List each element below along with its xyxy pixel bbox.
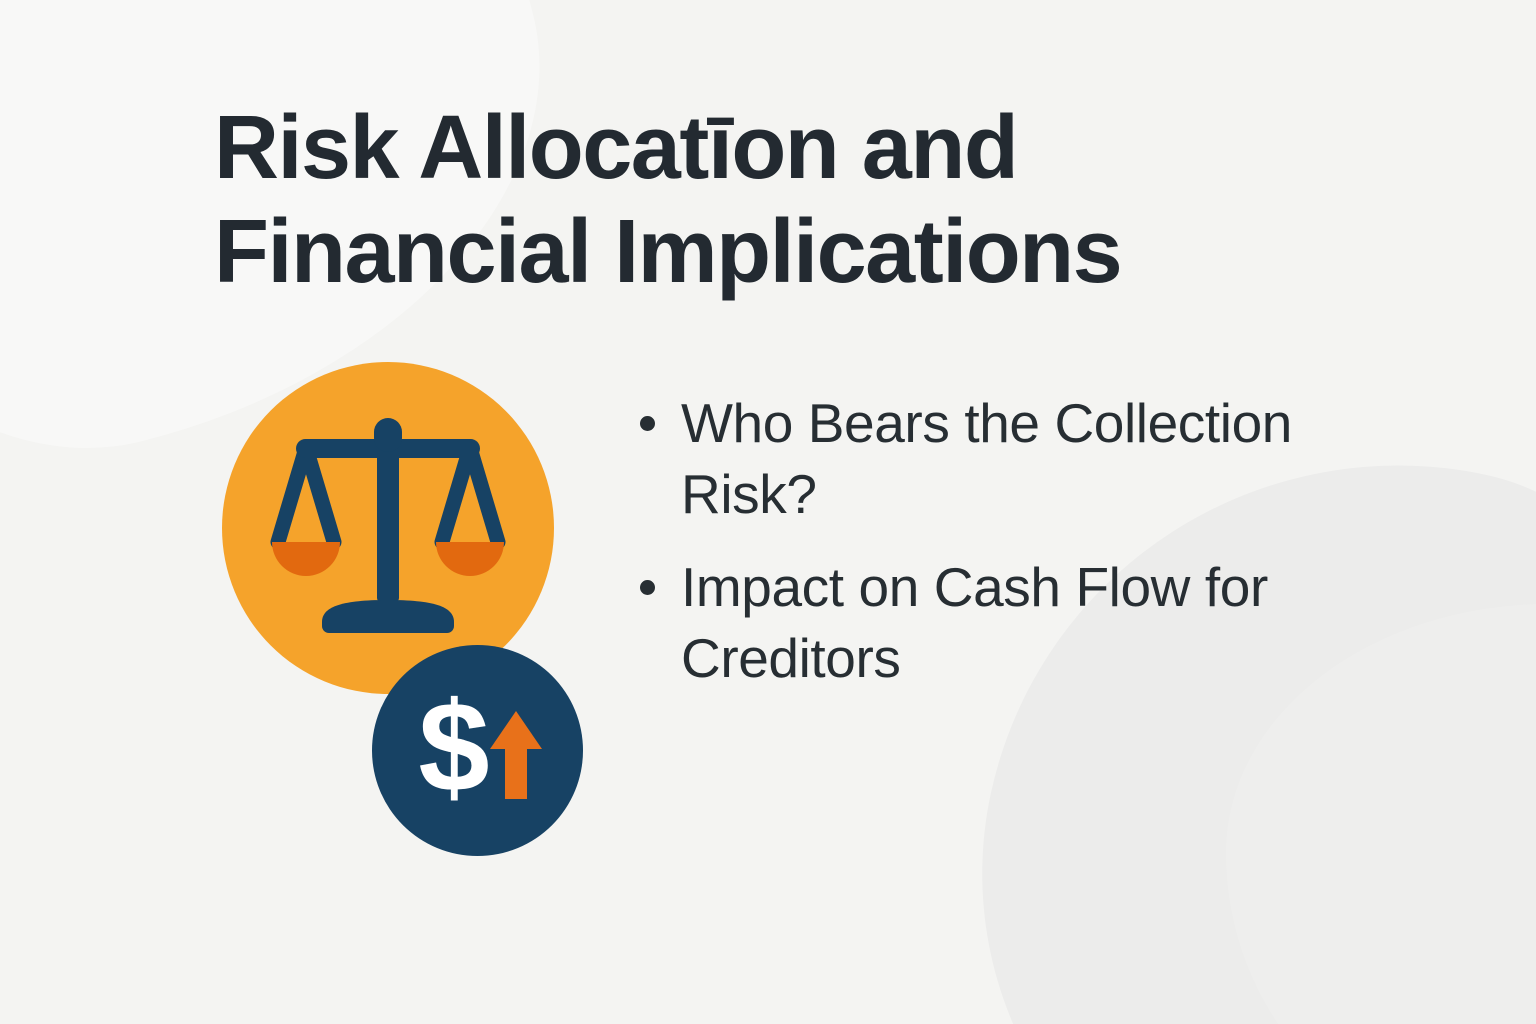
page-title: Risk Allocatīon and Financial Implicatio… [214, 96, 1274, 304]
bullet-dot-icon [640, 416, 655, 431]
dollar-growth-badge: $ [372, 645, 583, 856]
list-item: Who Bears the Collection Risk? [640, 388, 1330, 530]
list-item: Impact on Cash Flow for Creditors [640, 552, 1330, 694]
bullet-list: Who Bears the Collection Risk? Impact on… [640, 388, 1330, 716]
dollar-growth-icon: $ [406, 679, 550, 823]
page-title-line-1: Risk Allocatīon and [214, 96, 1274, 200]
slide-canvas: Risk Allocatīon and Financial Implicatio… [0, 0, 1536, 1024]
page-title-line-2: Financial Implications [214, 200, 1274, 304]
up-arrow-glyph [490, 711, 542, 799]
list-item-label: Impact on Cash Flow for Creditors [681, 552, 1330, 694]
balance-scale-badge [222, 362, 554, 694]
icon-cluster: $ [222, 362, 582, 862]
dollar-sign-glyph: $ [418, 679, 489, 819]
balance-scale-icon [266, 414, 510, 642]
list-item-label: Who Bears the Collection Risk? [681, 388, 1330, 530]
bullet-dot-icon [640, 580, 655, 595]
